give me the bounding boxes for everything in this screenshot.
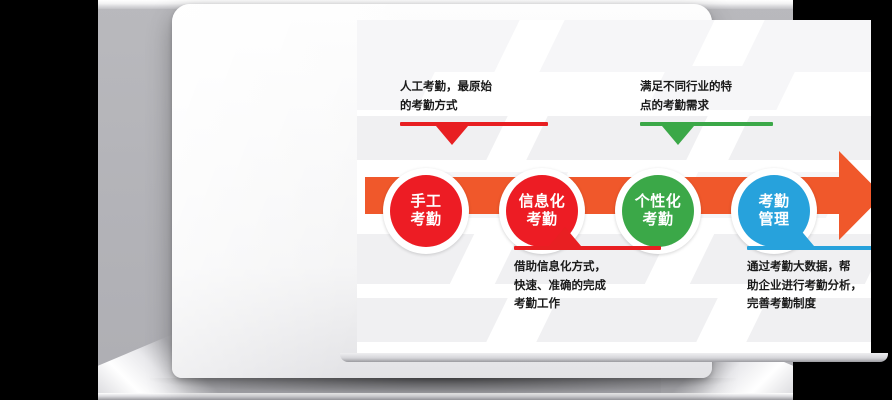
callout-4-pointer bbox=[782, 227, 814, 246]
stage-node-3-line1: 个性化 bbox=[635, 193, 682, 211]
callout-3-text: 借助信息化方式， 快速、准确的完成 考勤工作 bbox=[514, 258, 674, 314]
device-screen: 手工 考勤 信息化 考勤 个性化 考勤 考勤 管理 bbox=[357, 20, 871, 356]
callout-3-pointer bbox=[549, 227, 581, 246]
stage-node-1-disc: 手工 考勤 bbox=[390, 175, 462, 247]
callout-1-pointer bbox=[436, 126, 468, 145]
callout-1-rule bbox=[400, 122, 548, 126]
callout-4: 通过考勤大数据，帮 助企业进行考勤分析， 完善考勤制度 bbox=[747, 246, 871, 314]
callout-4-text: 通过考勤大数据，帮 助企业进行考勤分析， 完善考勤制度 bbox=[747, 258, 871, 314]
callout-3-rule bbox=[514, 246, 661, 250]
stage-node-3-line2: 考勤 bbox=[642, 211, 673, 229]
callout-2-text: 满足不同行业的特 点的考勤需求 bbox=[640, 78, 790, 115]
device-drop-shadow bbox=[150, 378, 736, 394]
stage-node-3[interactable]: 个性化 考勤 bbox=[615, 168, 701, 254]
stage-node-4-line1: 考勤 bbox=[758, 193, 789, 211]
callout-1: 人工考勤，最原始 的考勤方式 bbox=[400, 78, 560, 126]
callout-2-pointer bbox=[662, 126, 694, 145]
callout-1-text: 人工考勤，最原始 的考勤方式 bbox=[400, 78, 560, 115]
callout-4-rule bbox=[747, 246, 871, 250]
device-frame: 手工 考勤 信息化 考勤 个性化 考勤 考勤 管理 bbox=[172, 4, 712, 378]
stage-node-2-line1: 信息化 bbox=[519, 193, 566, 211]
stage-node-1[interactable]: 手工 考勤 bbox=[383, 168, 469, 254]
stage-node-1-line2: 考勤 bbox=[410, 211, 441, 229]
callout-3: 借助信息化方式， 快速、准确的完成 考勤工作 bbox=[514, 246, 674, 314]
callout-2-rule bbox=[640, 122, 773, 126]
stage-node-3-disc: 个性化 考勤 bbox=[622, 175, 694, 247]
screenshot-canvas: 手工 考勤 信息化 考勤 个性化 考勤 考勤 管理 bbox=[0, 0, 892, 400]
stage-node-1-line1: 手工 bbox=[410, 193, 441, 211]
device-bottom-lip bbox=[340, 353, 888, 362]
backdrop-base-edge bbox=[98, 393, 793, 400]
callout-2: 满足不同行业的特 点的考勤需求 bbox=[640, 78, 790, 126]
